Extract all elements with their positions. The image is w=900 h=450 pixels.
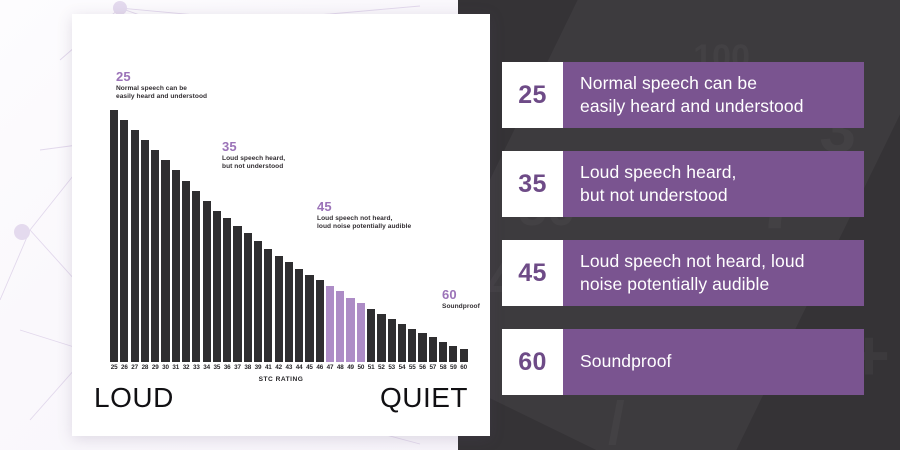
bar-45 — [305, 275, 313, 362]
bar-38 — [244, 233, 252, 362]
chart-card: 25 Normal speech can be easily heard and… — [72, 14, 490, 436]
bar-53 — [388, 319, 396, 362]
legend-row-text: Soundproof — [563, 329, 864, 395]
x-tick-45: 45 — [305, 364, 313, 371]
x-tick-42: 42 — [275, 364, 283, 371]
bar-31 — [172, 170, 180, 362]
bar-27 — [131, 130, 139, 362]
bar-35 — [213, 211, 221, 362]
chart-plot-area: 25 Normal speech can be easily heard and… — [94, 40, 472, 362]
ghost-slash-decoration: / — [608, 394, 625, 450]
chart-annotation-number: 60 — [442, 288, 480, 302]
x-tick-59: 59 — [449, 364, 457, 371]
bar-43 — [285, 262, 293, 362]
bar-36 — [223, 218, 231, 362]
x-tick-29: 29 — [151, 364, 159, 371]
x-tick-54: 54 — [398, 364, 406, 371]
x-tick-34: 34 — [203, 364, 211, 371]
legend-row-text: Loud speech heard, but not understood — [563, 151, 864, 217]
x-tick-35: 35 — [213, 364, 221, 371]
legend-row: 60 Soundproof — [502, 329, 864, 395]
bar-57 — [429, 337, 437, 362]
x-tick-39: 39 — [254, 364, 262, 371]
x-tick-48: 48 — [336, 364, 344, 371]
x-tick-25: 25 — [110, 364, 118, 371]
x-tick-57: 57 — [429, 364, 437, 371]
x-tick-47: 47 — [326, 364, 334, 371]
x-axis-tick-labels: 2526272829303132333435363738394142434445… — [110, 364, 468, 371]
x-tick-52: 52 — [377, 364, 385, 371]
x-tick-50: 50 — [357, 364, 365, 371]
x-tick-53: 53 — [388, 364, 396, 371]
bar-54 — [398, 324, 406, 362]
bar-32 — [182, 181, 190, 362]
annotation-line: easily heard and understood — [116, 93, 207, 102]
annotation-line: loud noise potentially audible — [317, 223, 411, 232]
bar-25 — [110, 110, 118, 362]
scale-end-loud: LOUD — [94, 382, 174, 414]
bar-48 — [336, 291, 344, 362]
x-tick-30: 30 — [161, 364, 169, 371]
bar-34 — [203, 201, 211, 362]
x-tick-51: 51 — [367, 364, 375, 371]
bar-26 — [120, 120, 128, 362]
legend-row-line1: Loud speech not heard, loud — [580, 250, 805, 273]
bar-56 — [418, 333, 426, 362]
legend-row-number: 60 — [502, 329, 563, 395]
x-tick-55: 55 — [408, 364, 416, 371]
legend-list: 25 Normal speech can be easily heard and… — [502, 62, 864, 395]
x-tick-44: 44 — [295, 364, 303, 371]
annotation-line: Soundproof — [442, 303, 480, 312]
x-tick-36: 36 — [223, 364, 231, 371]
legend-row-text: Loud speech not heard, loud noise potent… — [563, 240, 864, 306]
legend-row: 25 Normal speech can be easily heard and… — [502, 62, 864, 128]
x-tick-56: 56 — [418, 364, 426, 371]
legend-row-line2: but not understood — [580, 184, 737, 207]
bar-50 — [357, 303, 365, 362]
bar-47 — [326, 286, 334, 362]
x-tick-26: 26 — [120, 364, 128, 371]
screenshot-root: 3 7 50 40 + 100 / 25 Normal speech can b… — [0, 0, 900, 450]
bar-52 — [377, 314, 385, 362]
chart-annotation-60: 60 Soundproof — [442, 288, 480, 311]
annotation-line: Normal speech can be — [116, 85, 207, 94]
chart-annotation-25: 25 Normal speech can be easily heard and… — [116, 70, 207, 102]
x-tick-31: 31 — [172, 364, 180, 371]
chart-annotation-number: 25 — [116, 70, 207, 84]
bar-37 — [233, 226, 241, 362]
bar-29 — [151, 150, 159, 362]
x-tick-60: 60 — [460, 364, 468, 371]
bar-44 — [295, 269, 303, 362]
x-tick-27: 27 — [131, 364, 139, 371]
chart-annotation-description: Soundproof — [442, 303, 480, 312]
bar-46 — [316, 280, 324, 362]
legend-row-line2: easily heard and understood — [580, 95, 804, 118]
chart-annotation-45: 45 Loud speech not heard, loud noise pot… — [317, 200, 411, 232]
x-tick-37: 37 — [233, 364, 241, 371]
x-tick-32: 32 — [182, 364, 190, 371]
bar-51 — [367, 309, 375, 362]
chart-annotation-description: Loud speech not heard, loud noise potent… — [317, 215, 411, 233]
x-tick-38: 38 — [244, 364, 252, 371]
legend-row-number: 35 — [502, 151, 563, 217]
bar-series — [110, 110, 468, 362]
legend-row-line1: Normal speech can be — [580, 72, 804, 95]
chart-annotation-description: Normal speech can be easily heard and un… — [116, 85, 207, 103]
bar-58 — [439, 342, 447, 362]
bar-33 — [192, 191, 200, 362]
scale-end-quiet: QUIET — [380, 382, 468, 414]
x-tick-58: 58 — [439, 364, 447, 371]
legend-row-number: 25 — [502, 62, 563, 128]
legend-row-line1: Soundproof — [580, 350, 672, 373]
x-tick-46: 46 — [316, 364, 324, 371]
x-tick-33: 33 — [192, 364, 200, 371]
x-tick-49: 49 — [346, 364, 354, 371]
bar-42 — [275, 256, 283, 362]
bar-39 — [254, 241, 262, 362]
x-tick-41: 41 — [264, 364, 272, 371]
legend-row: 45 Loud speech not heard, loud noise pot… — [502, 240, 864, 306]
bar-59 — [449, 346, 457, 362]
bar-49 — [346, 298, 354, 362]
bar-28 — [141, 140, 149, 362]
chart-annotation-description: Loud speech heard, but not understood — [222, 155, 285, 173]
legend-row-line2: noise potentially audible — [580, 273, 805, 296]
chart-annotation-number: 45 — [317, 200, 411, 214]
annotation-line: Loud speech heard, — [222, 155, 285, 164]
annotation-line: but not understood — [222, 163, 285, 172]
legend-row-line1: Loud speech heard, — [580, 161, 737, 184]
legend-row-text: Normal speech can be easily heard and un… — [563, 62, 864, 128]
bar-60 — [460, 349, 468, 362]
legend-row-number: 45 — [502, 240, 563, 306]
bar-41 — [264, 249, 272, 362]
annotation-line: Loud speech not heard, — [317, 215, 411, 224]
legend-row: 35 Loud speech heard, but not understood — [502, 151, 864, 217]
x-tick-43: 43 — [285, 364, 293, 371]
bar-55 — [408, 329, 416, 362]
chart-annotation-number: 35 — [222, 140, 285, 154]
chart-annotation-35: 35 Loud speech heard, but not understood — [222, 140, 285, 172]
bar-30 — [161, 160, 169, 362]
x-tick-28: 28 — [141, 364, 149, 371]
